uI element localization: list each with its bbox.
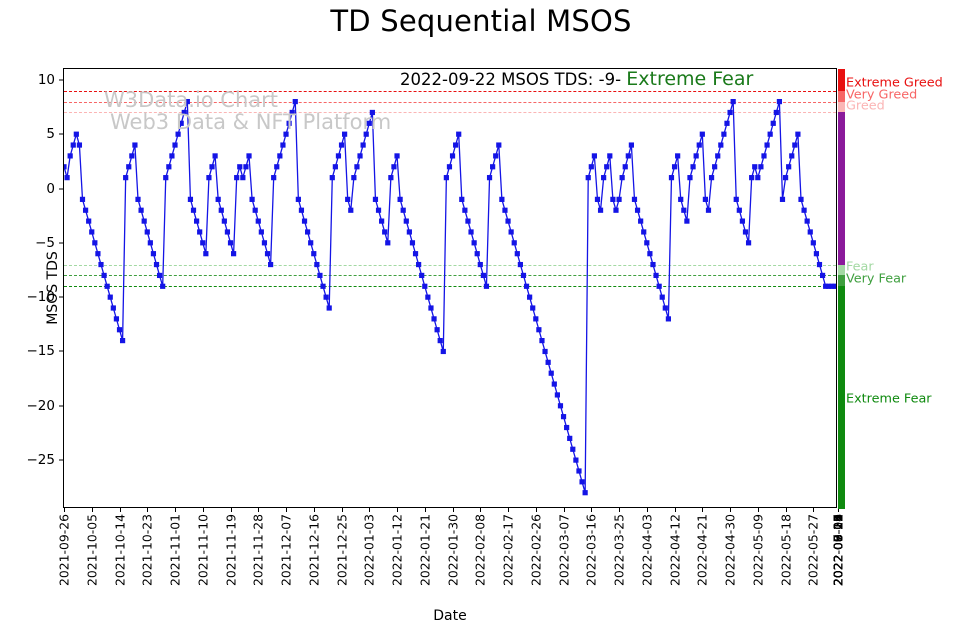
plot-clip	[64, 69, 836, 507]
x-tick-mark	[425, 507, 426, 512]
x-tick-mark	[286, 507, 287, 512]
x-tick-label: 2022-03-25	[612, 514, 627, 586]
x-tick-label: 2021-11-28	[251, 514, 266, 586]
x-tick-label: 2022-01-03	[362, 514, 377, 586]
x-tick-label: 2022-02-17	[501, 514, 516, 586]
fear-bar	[838, 265, 845, 276]
x-tick-mark	[730, 507, 731, 512]
x-tick-label: 2022-03-07	[556, 514, 571, 586]
x-tick-mark	[536, 507, 537, 512]
x-tick-label: 2021-11-19	[223, 514, 238, 586]
x-tick-label: 2022-04-21	[695, 514, 710, 586]
x-tick-label: 2021-11-10	[195, 514, 210, 586]
zone-label-very-fear: Very Fear	[846, 271, 906, 286]
x-tick-label: 2022-01-12	[390, 514, 405, 586]
neutral-bar	[838, 112, 845, 264]
x-tick-mark	[619, 507, 620, 512]
x-tick-mark	[786, 507, 787, 512]
x-tick-mark	[675, 507, 676, 512]
x-tick-mark	[175, 507, 176, 512]
x-tick-label: 2022-02-08	[473, 514, 488, 586]
page-title: TD Sequential MSOS	[0, 4, 962, 38]
x-tick-label: 2022-05-27	[806, 514, 821, 586]
y-tick-label: 0	[46, 181, 64, 197]
x-tick-mark	[369, 507, 370, 512]
very-greed-bar	[838, 91, 845, 102]
x-tick-mark	[203, 507, 204, 512]
annotation-state: Extreme Fear	[626, 68, 753, 90]
x-tick-label: 2021-10-14	[112, 514, 127, 586]
x-tick-label: 2021-12-07	[279, 514, 294, 586]
y-tick-label: −10	[27, 289, 65, 305]
x-tick-label: 2022-04-12	[667, 514, 682, 586]
x-tick-mark	[564, 507, 565, 512]
extreme-fear-bar	[838, 286, 845, 509]
x-tick-mark	[647, 507, 648, 512]
current-value-annotation: 2022-09-22 MSOS TDS: -9- Extreme Fear	[400, 68, 753, 90]
x-tick-mark	[813, 507, 814, 512]
chart-root: TD Sequential MSOS MSOS TDS 1050−5−10−15…	[0, 0, 962, 633]
x-tick-label: 2021-09-26	[57, 514, 72, 586]
y-tick-label: −5	[35, 235, 64, 251]
greed-bar	[838, 102, 845, 113]
x-tick-mark	[231, 507, 232, 512]
watermark-primary: W3Data.io Chart	[104, 88, 278, 112]
watermark-secondary: Web3 Data & NFT Platform	[110, 110, 391, 134]
x-tick-label: 2021-12-25	[334, 514, 349, 586]
y-tick-label: −20	[27, 398, 65, 414]
x-tick-mark	[92, 507, 93, 512]
x-tick-label: 2022-01-21	[417, 514, 432, 586]
x-tick-label: 2021-10-23	[140, 514, 155, 586]
x-tick-mark	[314, 507, 315, 512]
x-tick-label: 2022-05-09	[750, 514, 765, 586]
plot-area: MSOS TDS 1050−5−10−15−20−25 2021-09-2620…	[63, 68, 837, 508]
x-tick-mark	[453, 507, 454, 512]
extreme-greed-bar	[838, 69, 845, 91]
x-tick-label: 2022-05-18	[778, 514, 793, 586]
y-tick-label: −25	[27, 452, 65, 468]
very-fear-bar	[838, 275, 845, 286]
x-tick-label: 2022-09-21	[831, 514, 846, 586]
x-tick-label: 2021-11-01	[168, 514, 183, 586]
x-tick-label: 2022-02-26	[528, 514, 543, 586]
x-tick-label: 2022-04-03	[639, 514, 654, 586]
x-axis-label: Date	[63, 608, 837, 624]
x-tick-label: 2021-10-05	[84, 514, 99, 586]
y-tick-label: 5	[46, 126, 64, 142]
x-tick-mark	[64, 507, 65, 512]
zone-label-extreme-fear: Extreme Fear	[846, 392, 932, 407]
annotation-prefix: 2022-09-22 MSOS TDS: -9-	[400, 70, 626, 89]
x-tick-mark	[342, 507, 343, 512]
data-series-msos-tds	[64, 69, 836, 507]
x-tick-label: 2022-04-30	[723, 514, 738, 586]
x-tick-mark	[120, 507, 121, 512]
y-axis-label: MSOS TDS	[45, 251, 61, 325]
x-tick-label: 2022-01-30	[445, 514, 460, 586]
x-tick-mark	[258, 507, 259, 512]
x-tick-label: 2021-12-16	[306, 514, 321, 586]
y-tick-label: −15	[27, 343, 65, 359]
x-tick-mark	[591, 507, 592, 512]
x-tick-mark	[480, 507, 481, 512]
x-tick-mark	[508, 507, 509, 512]
x-tick-mark	[147, 507, 148, 512]
x-tick-mark	[758, 507, 759, 512]
x-tick-label: 2022-03-16	[584, 514, 599, 586]
x-tick-mark	[397, 507, 398, 512]
x-tick-mark	[702, 507, 703, 512]
zone-label-greed: Greed	[846, 99, 885, 114]
y-tick-label: 10	[38, 72, 64, 88]
